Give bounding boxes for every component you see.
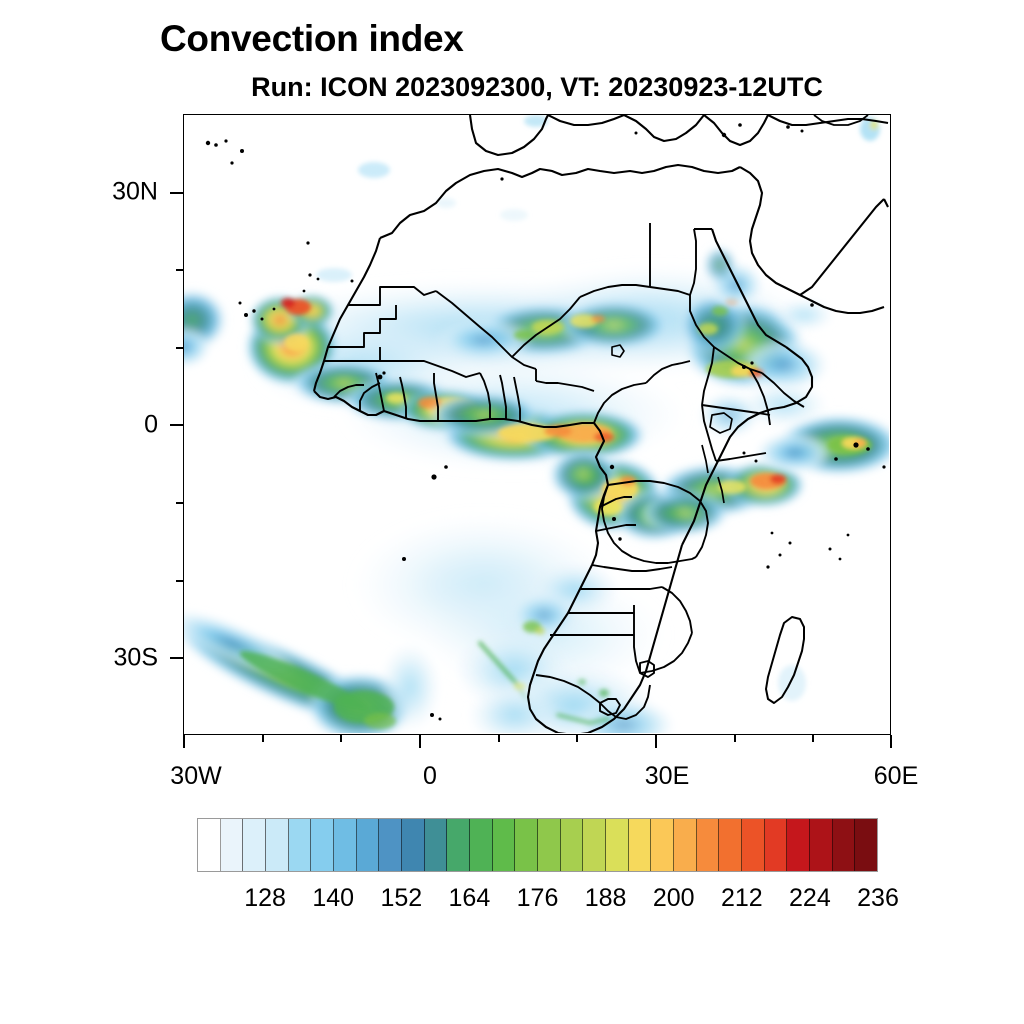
y-major-tick	[170, 657, 183, 659]
colorbar-cell	[833, 819, 856, 871]
colorbar-cell	[674, 819, 697, 871]
colorbar-cell	[765, 819, 788, 871]
colorbar-cell	[855, 819, 877, 871]
colorbar-cell	[447, 819, 470, 871]
colorbar-tick-label: 188	[585, 884, 627, 913]
field-congo-basin	[640, 463, 804, 535]
y-axis-label-0: 0	[96, 411, 158, 440]
colorbar-cell	[311, 819, 334, 871]
x-axis-label-0: 0	[423, 762, 437, 791]
colorbar-cell	[583, 819, 606, 871]
field-atlantic-nw	[184, 290, 226, 367]
colorbar-tick-label: 152	[380, 884, 422, 913]
x-minor-tick	[576, 735, 578, 742]
colorbar-cell	[606, 819, 629, 871]
colorbar-cell	[493, 819, 516, 871]
colorbar-cell	[402, 819, 425, 871]
colorbar-cell	[221, 819, 244, 871]
y-minor-tick	[176, 580, 183, 582]
y-axis-label-30n: 30N	[96, 178, 158, 207]
colorbar-cell	[697, 819, 720, 871]
y-minor-tick	[176, 502, 183, 504]
x-minor-tick	[262, 735, 264, 742]
x-major-tick	[890, 735, 892, 748]
figure-canvas: Convection index Run: ICON 2023092300, V…	[0, 0, 1024, 1024]
colorbar-cell	[561, 819, 584, 871]
y-axis-label-30s: 30S	[96, 644, 158, 673]
convection-index-map	[184, 115, 889, 733]
colorbar-cell	[334, 819, 357, 871]
colorbar-cell	[719, 819, 742, 871]
x-minor-tick	[734, 735, 736, 742]
colorbar-cell	[289, 819, 312, 871]
field-sahara-patches	[316, 115, 548, 282]
page-title: Convection index	[160, 18, 464, 60]
y-minor-tick	[176, 269, 183, 271]
colorbar-cell	[742, 819, 765, 871]
colorbar-cell	[198, 819, 221, 871]
colorbar-cell	[470, 819, 493, 871]
colorbar-cell	[425, 819, 448, 871]
figure-subtitle: Run: ICON 2023092300, VT: 20230923-12UTC	[183, 72, 891, 103]
colorbar-cell	[243, 819, 266, 871]
colorbar-tick-label: 212	[721, 884, 763, 913]
x-minor-tick	[340, 735, 342, 742]
colorbar-tick-label: 236	[857, 884, 899, 913]
colorbar-tick-label: 200	[653, 884, 695, 913]
colorbar-tick-label: 128	[244, 884, 286, 913]
colorbar-cell	[629, 819, 652, 871]
x-major-tick	[183, 735, 185, 748]
colorbar-tick-label: 176	[517, 884, 559, 913]
colorbar-cell	[787, 819, 810, 871]
colorbar-cell	[379, 819, 402, 871]
colorbar-cells	[197, 818, 878, 872]
x-minor-tick	[498, 735, 500, 742]
colorbar-tick-label: 224	[789, 884, 831, 913]
colorbar-cell	[515, 819, 538, 871]
x-axis-label-30e: 30E	[645, 762, 689, 791]
y-major-tick	[170, 192, 183, 194]
x-axis-label-60e: 60E	[874, 762, 918, 791]
x-axis-label-30w: 30W	[170, 762, 221, 791]
colorbar-cell	[538, 819, 561, 871]
colorbar-tick-label: 164	[449, 884, 491, 913]
colorbar	[197, 818, 878, 872]
colorbar-cell	[651, 819, 674, 871]
convection-field	[184, 115, 889, 733]
x-major-tick	[419, 735, 421, 748]
y-major-tick	[170, 424, 183, 426]
colorbar-cell	[810, 819, 833, 871]
colorbar-cell	[266, 819, 289, 871]
colorbar-tick-label: 140	[312, 884, 354, 913]
map-plot-area	[183, 114, 891, 735]
x-minor-tick	[812, 735, 814, 742]
y-minor-tick	[176, 347, 183, 349]
colorbar-cell	[357, 819, 380, 871]
x-major-tick	[655, 735, 657, 748]
